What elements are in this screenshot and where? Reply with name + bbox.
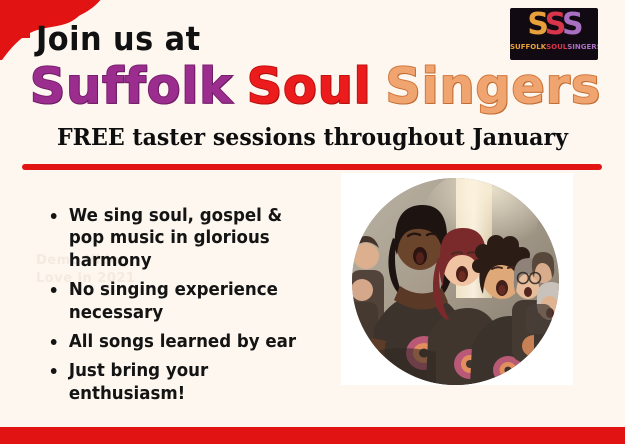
brand-title: SuffolkSoulSingers	[30, 62, 601, 111]
benefits-list: We sing soul, gospel & pop music in glor…	[48, 205, 328, 412]
brand-word-soul: Soul	[247, 62, 372, 111]
list-item: All songs learned by ear	[48, 331, 314, 353]
brand-word-singers: Singers	[386, 62, 602, 111]
sss-monogram: SSS	[510, 10, 598, 40]
subheadline: FREE taster sessions throughout January	[57, 126, 568, 149]
logo-word-suffolk: SUFFOLK	[510, 43, 546, 51]
logo-word-soul: SOUL	[546, 43, 567, 51]
list-item: Just bring your enthusiasm!	[48, 360, 314, 405]
poster-canvas: SSS SUFFOLKSOULSINGERS Join us at Suffol…	[0, 0, 625, 444]
choir-photo	[352, 178, 559, 385]
logo-word-singers: SINGERS	[567, 43, 598, 51]
logo-wordmark: SUFFOLKSOULSINGERS	[510, 44, 598, 51]
red-divider-rule	[22, 164, 602, 170]
list-item: No singing experience necessary	[48, 279, 314, 324]
logo-letter-1: S	[527, 8, 544, 42]
choir-photo-card	[341, 173, 573, 385]
brand-word-suffolk: Suffolk	[30, 62, 233, 111]
headline: Join us at	[36, 22, 201, 55]
sss-logo: SSS SUFFOLKSOULSINGERS	[510, 8, 598, 60]
bottom-red-band	[0, 427, 625, 444]
list-item: We sing soul, gospel & pop music in glor…	[48, 205, 314, 272]
logo-letter-3: S	[562, 8, 581, 42]
logo-letter-2: S	[545, 8, 562, 42]
